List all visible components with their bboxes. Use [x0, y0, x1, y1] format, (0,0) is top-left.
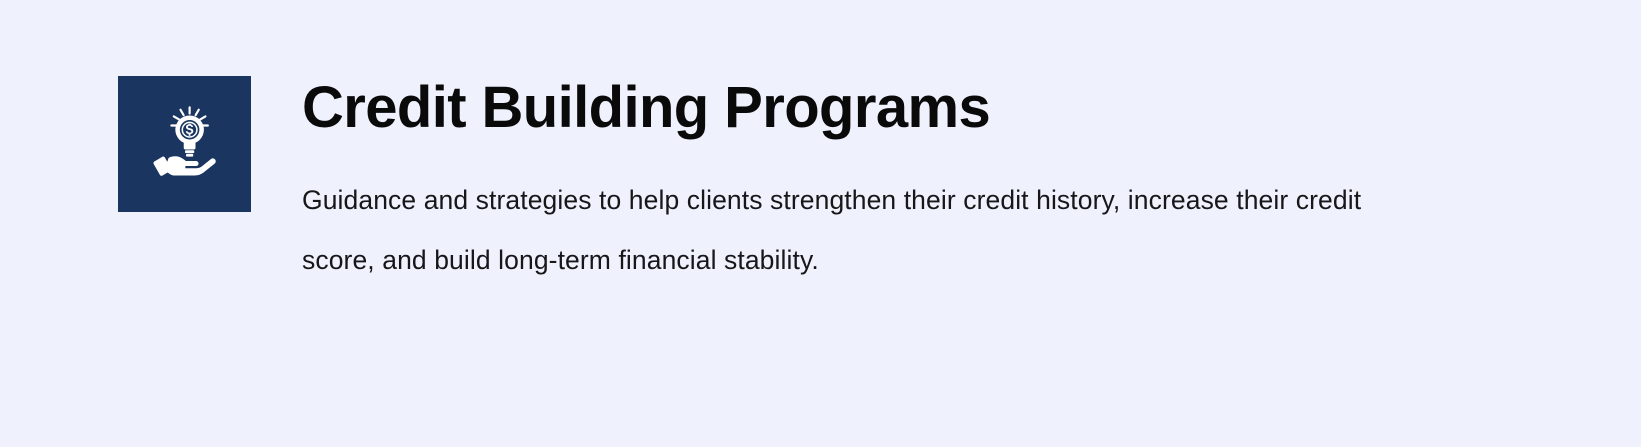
- feature-text-column: Credit Building Programs Guidance and st…: [302, 68, 1552, 290]
- hand-holding-lightbulb-dollar-icon: [143, 102, 227, 186]
- feature-icon-tile: [118, 76, 251, 212]
- page-title: Credit Building Programs: [302, 68, 1552, 148]
- feature-description: Guidance and strategies to help clients …: [302, 148, 1377, 290]
- feature-block: Credit Building Programs Guidance and st…: [0, 0, 1641, 447]
